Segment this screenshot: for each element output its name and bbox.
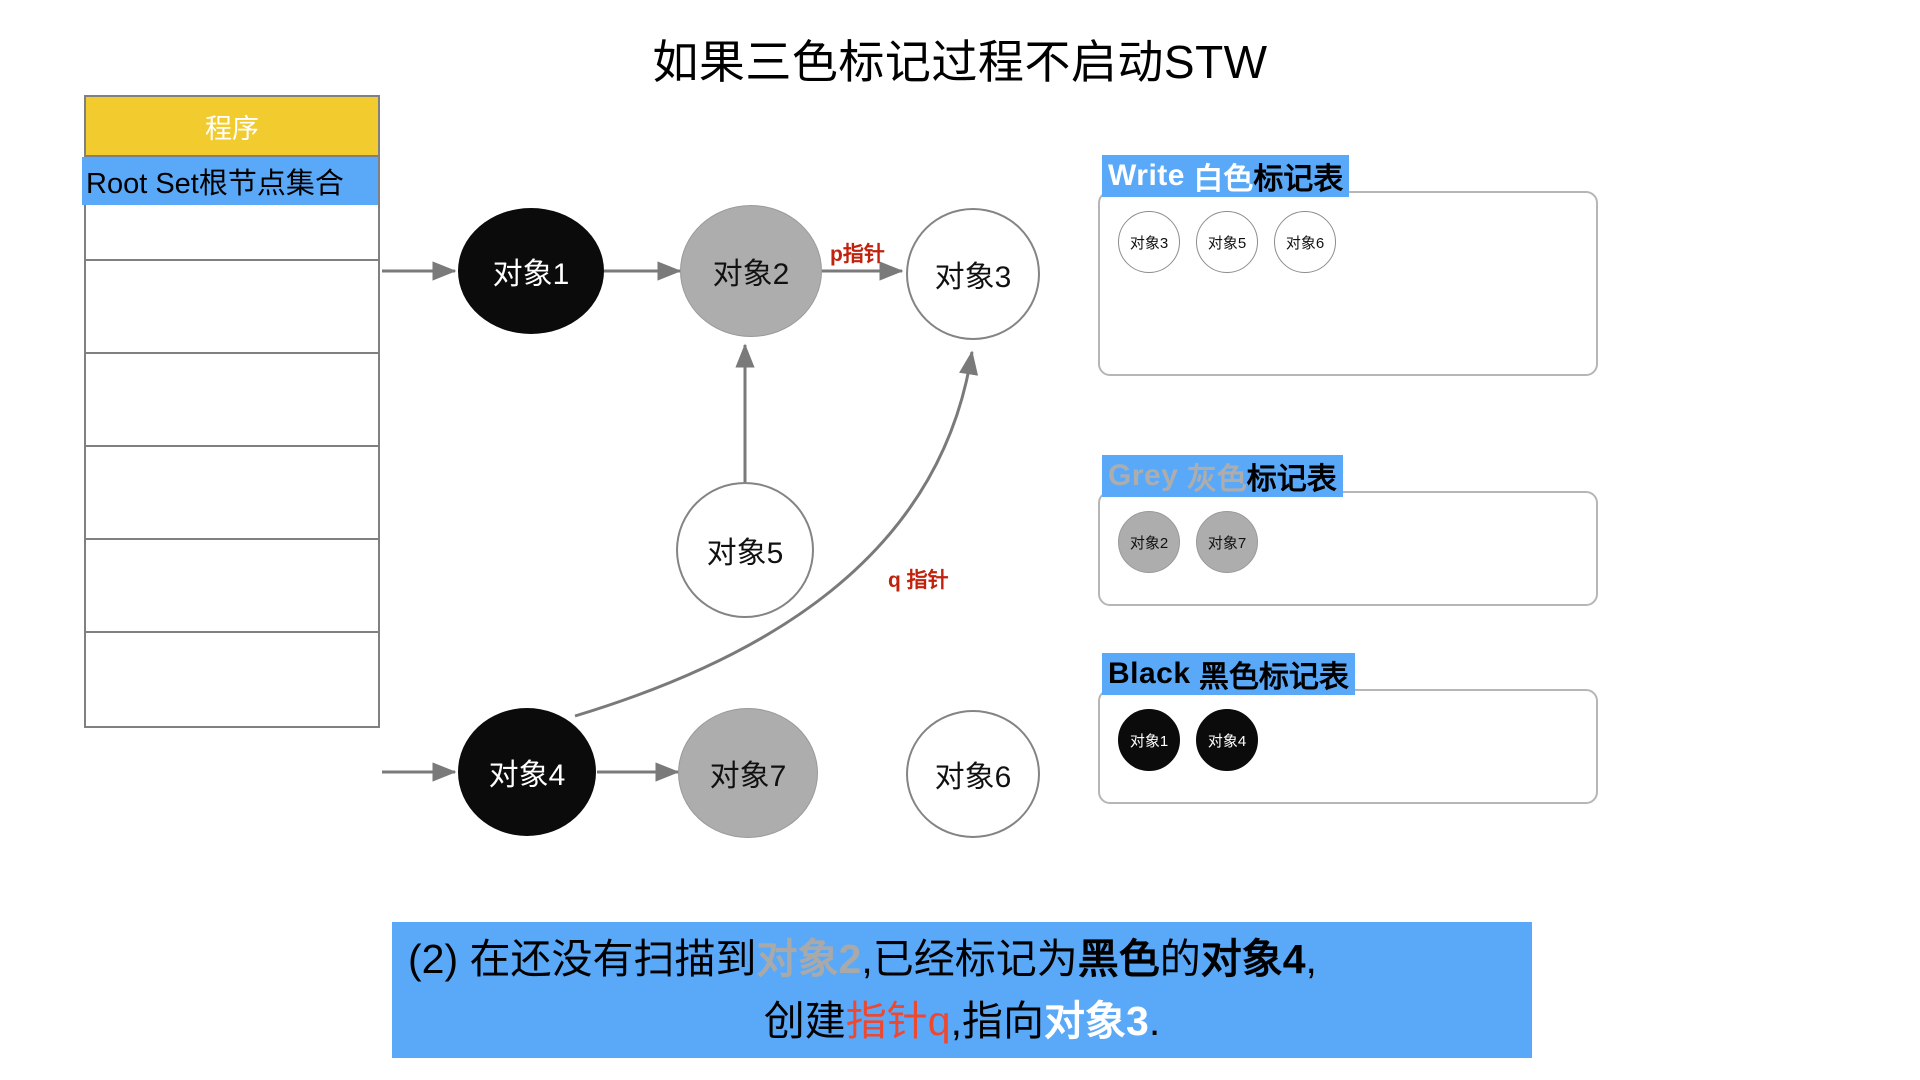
graph-node-obj4[interactable]: 对象4 — [458, 708, 596, 836]
caption-l1-p4: , — [1306, 936, 1317, 982]
caption-l2-p3: . — [1149, 998, 1160, 1044]
black-mark-table-items: 对象1 对象4 — [1118, 709, 1258, 771]
spacer — [1178, 459, 1186, 493]
caption-l2-p2: ,指向 — [951, 998, 1044, 1044]
pointer-label-p: p指针 — [830, 238, 885, 268]
caption-l1-bold1: 黑色 — [1078, 936, 1160, 982]
caption-l2-white: 对象3 — [1044, 998, 1149, 1044]
table-row — [86, 540, 378, 633]
graph-node-obj5[interactable]: 对象5 — [676, 482, 814, 618]
graph-node-obj2[interactable]: 对象2 — [680, 205, 822, 337]
mark-chip-label: 对象7 — [1208, 532, 1246, 553]
caption-l1-grey: 对象2 — [757, 936, 862, 982]
black-mark-table-body: 对象1 对象4 — [1098, 689, 1598, 804]
mark-chip[interactable]: 对象5 — [1196, 211, 1258, 273]
table-row — [86, 261, 378, 354]
graph-node-label: 对象3 — [935, 252, 1012, 296]
mark-chip-label: 对象2 — [1130, 532, 1168, 553]
white-mark-table-header: Write 白色 标记表 — [1102, 155, 1349, 197]
page-title: 如果三色标记过程不启动STW — [0, 26, 1920, 92]
white-mark-table-en: Write — [1108, 159, 1185, 193]
mark-chip[interactable]: 对象6 — [1274, 211, 1336, 273]
white-mark-table-color: 白色 — [1193, 154, 1253, 198]
graph-node-label: 对象1 — [493, 249, 570, 293]
graph-node-label: 对象7 — [710, 751, 787, 795]
caption-l2-p1: 创建 — [764, 998, 846, 1044]
graph-node-obj1[interactable]: 对象1 — [458, 208, 604, 334]
white-mark-table-items: 对象3 对象5 对象6 — [1118, 211, 1336, 273]
caption-l1-bold2: 对象4 — [1201, 936, 1306, 982]
graph-node-obj6[interactable]: 对象6 — [906, 710, 1040, 838]
program-table-header-label: 程序 — [205, 107, 259, 146]
spacer — [1185, 159, 1193, 193]
caption-l2-red: 指针q — [846, 998, 951, 1044]
grey-mark-table-body: 对象2 对象7 — [1098, 491, 1598, 606]
graph-node-label: 对象5 — [707, 528, 784, 572]
mark-chip-label: 对象3 — [1130, 232, 1168, 253]
grey-mark-table-en: Grey — [1108, 459, 1178, 493]
pointer-label-q: q 指针 — [888, 564, 949, 594]
program-table-body — [84, 157, 380, 728]
grey-mark-table-suffix: 标记表 — [1247, 454, 1337, 498]
caption-line-2: 创建指针q,指向对象3. — [392, 990, 1532, 1052]
white-mark-table-suffix: 标记表 — [1253, 154, 1343, 198]
slide-canvas: 如果三色标记过程不启动STW 程序 Root Set根节点集合 — [0, 0, 1920, 1080]
program-table-header: 程序 — [84, 95, 380, 157]
mark-chip-label: 对象6 — [1286, 232, 1324, 253]
mark-chip[interactable]: 对象4 — [1196, 709, 1258, 771]
mark-chip-label: 对象4 — [1208, 730, 1246, 751]
black-mark-table-suffix: 标记表 — [1259, 652, 1349, 696]
mark-chip-label: 对象1 — [1130, 730, 1168, 751]
caption-l1-p1: (2) 在还没有扫描到 — [408, 936, 757, 982]
caption-line-1: (2) 在还没有扫描到对象2,已经标记为黑色的对象4, — [392, 928, 1532, 990]
graph-node-label: 对象2 — [713, 249, 790, 293]
mark-chip[interactable]: 对象3 — [1118, 211, 1180, 273]
table-row — [86, 354, 378, 447]
grey-mark-table-color: 灰色 — [1187, 454, 1247, 498]
mark-chip[interactable]: 对象2 — [1118, 511, 1180, 573]
grey-mark-table-header: Grey 灰色 标记表 — [1102, 455, 1343, 497]
caption-box: (2) 在还没有扫描到对象2,已经标记为黑色的对象4, 创建指针q,指向对象3. — [392, 922, 1532, 1058]
mark-chip[interactable]: 对象7 — [1196, 511, 1258, 573]
pointer-label-p-text: p指针 — [830, 243, 885, 266]
table-row — [86, 447, 378, 540]
spacer — [1191, 657, 1199, 691]
program-table: 程序 Root Set根节点集合 — [84, 95, 380, 728]
mark-chip[interactable]: 对象1 — [1118, 709, 1180, 771]
black-mark-table-color: 黑色 — [1199, 652, 1259, 696]
grey-mark-table-items: 对象2 对象7 — [1118, 511, 1258, 573]
white-mark-table-body: 对象3 对象5 对象6 — [1098, 191, 1598, 376]
mark-chip-label: 对象5 — [1208, 232, 1246, 253]
pointer-label-q-text: q 指针 — [888, 569, 949, 592]
black-mark-table-header: Black 黑色 标记表 — [1102, 653, 1355, 695]
table-row — [86, 633, 378, 726]
graph-node-label: 对象4 — [489, 750, 566, 794]
root-set-label: Root Set根节点集合 — [86, 160, 344, 202]
caption-l1-p2: ,已经标记为 — [861, 936, 1077, 982]
caption-l1-p3: 的 — [1160, 936, 1201, 982]
graph-node-obj7[interactable]: 对象7 — [678, 708, 818, 838]
black-mark-table-en: Black — [1108, 657, 1191, 691]
graph-node-obj3[interactable]: 对象3 — [906, 208, 1040, 340]
root-set-band: Root Set根节点集合 — [82, 157, 378, 205]
graph-node-label: 对象6 — [935, 752, 1012, 796]
